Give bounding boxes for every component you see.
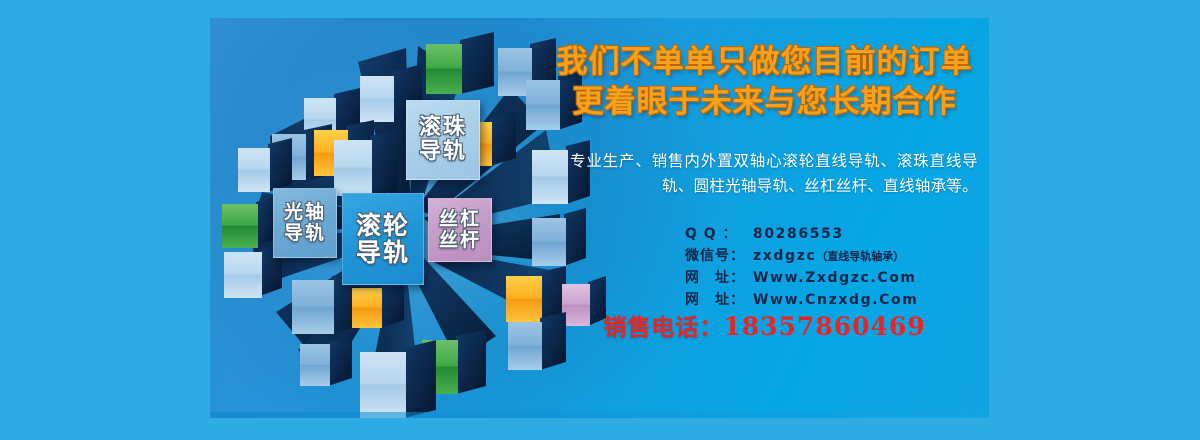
sales-phone-label: 销售电话： [603, 315, 723, 341]
banner-text-column: 我们不单单只做您目前的订单 更着眼于未来与您长期合作 专业生产、销售内外置双轴心… [540, 18, 989, 418]
contact-block: Q Q ： 80286553 微信号： zxdgzc （直线导轨轴承） 网 址：… [685, 223, 985, 311]
product-label-line1: 光轴 [284, 202, 326, 223]
product-label-line1: 滚珠 [419, 116, 467, 140]
contact-row-wechat: 微信号： zxdgzc （直线导轨轴承） [685, 245, 985, 267]
headline: 我们不单单只做您目前的订单 更着眼于未来与您长期合作 [540, 42, 989, 123]
product-label-line2: 丝杆 [439, 230, 481, 251]
contact-label-qq: Q Q ： [685, 223, 753, 245]
contact-label-website-1: 网 址： [685, 267, 753, 289]
contact-row-website-1: 网 址： Www.Zxdgzc.Com [685, 267, 985, 289]
product-label-line1: 滚轮 [356, 212, 410, 239]
contact-value-wechat: zxdgzc [753, 245, 816, 267]
headline-line-1: 我们不单单只做您目前的订单 [540, 42, 989, 82]
promo-banner: 滚珠 导轨 光轴 导轨 滚轮 导轨 丝杠 丝杆 我们不单单只做您目前的订单 更着… [210, 18, 989, 418]
contact-value-website-1[interactable]: Www.Zxdgzc.Com [753, 267, 917, 289]
product-label-roller-guide: 滚轮 导轨 [342, 193, 424, 285]
product-label-line2: 导轨 [356, 239, 410, 266]
page-root: 滚珠 导轨 光轴 导轨 滚轮 导轨 丝杠 丝杆 我们不单单只做您目前的订单 更着… [0, 0, 1200, 440]
product-label-line1: 丝杠 [439, 209, 481, 230]
sales-phone-number: 18357860469 [723, 312, 925, 341]
description-text: 专业生产、销售内外置双轴心滚轮直线导轨、滚珠直线导轨、圆柱光轴导轨、丝杠丝杆、直… [570, 149, 978, 199]
contact-note-wechat: （直线导轨轴承） [816, 248, 904, 265]
product-label-lead-screw: 丝杠 丝杆 [428, 198, 492, 262]
product-label-line2: 导轨 [284, 223, 326, 244]
sales-phone-block: 销售电话：18357860469 [540, 308, 989, 342]
product-label-ball-guide: 滚珠 导轨 [406, 100, 480, 180]
contact-label-wechat: 微信号： [685, 245, 753, 267]
headline-line-2: 更着眼于未来与您长期合作 [540, 82, 989, 122]
contact-value-qq: 80286553 [753, 223, 844, 245]
contact-row-qq: Q Q ： 80286553 [685, 223, 985, 245]
product-label-line2: 导轨 [419, 140, 467, 164]
product-label-optical-shaft-guide: 光轴 导轨 [273, 188, 337, 258]
